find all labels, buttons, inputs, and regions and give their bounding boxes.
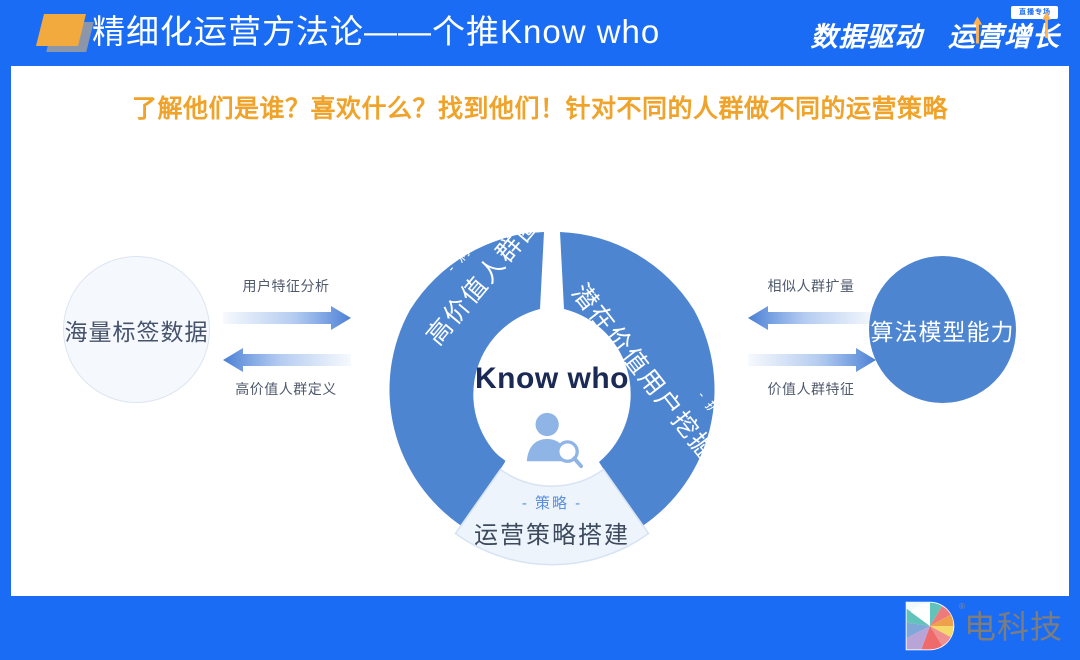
flow-label-right-top: 相似人群扩量	[741, 276, 881, 296]
campaign-slogan: 数据驱动 运营增长	[810, 20, 1060, 54]
node-right-label: 算法模型能力	[871, 313, 1015, 347]
brand-watermark: ® 电科技	[904, 598, 1074, 660]
segment-dash-strategy: - 策略 -	[407, 493, 697, 515]
flow-arrows-left	[223, 306, 351, 372]
arrow-up-icon-2	[1042, 12, 1051, 38]
node-left-tag-data: 海量标签数据	[63, 256, 210, 403]
segment-label-strategy: - 策略 - 运营策略搭建	[407, 493, 697, 553]
flow-label-left-top: 用户特征分析	[216, 276, 356, 296]
pinwheel-logo-icon	[904, 600, 956, 652]
brand-name: 电科技	[964, 606, 1063, 648]
flow-label-right-bottom: 价值人群特征	[741, 379, 881, 399]
stacked-parallelogram-logo-icon	[36, 12, 94, 54]
center-title: Know who	[397, 362, 707, 396]
segment-name-strategy: 运营策略搭建	[407, 519, 697, 553]
campaign-slogan-part1: 数据驱动	[810, 22, 922, 52]
knowwho-diagram: - 洞察 - 高价值人群圈选 - 扩量 - 潜在价值用户挖掘 - 策略 - 运营…	[11, 66, 1069, 596]
node-left-label: 海量标签数据	[65, 313, 209, 347]
arrow-up-icon-1	[973, 16, 982, 44]
logo-front-shape	[36, 14, 86, 46]
node-right-algo-model: 算法模型能力	[869, 256, 1016, 403]
slide-root: 精细化运营方法论——个推Know who 直播专场 数据驱动 运营增长 了解他们…	[0, 0, 1080, 607]
flow-arrows-right	[748, 306, 876, 372]
slide-body: 了解他们是谁？喜欢什么？找到他们！针对不同的人群做不同的运营策略	[11, 66, 1069, 596]
page-title: 精细化运营方法论——个推Know who	[92, 8, 660, 56]
campaign-lockup: 直播专场 数据驱动 运营增长	[832, 4, 1062, 62]
user-search-icon	[521, 408, 583, 470]
flow-label-left-bottom: 高价值人群定义	[216, 379, 356, 399]
slide-header: 精细化运营方法论——个推Know who 直播专场 数据驱动 运营增长	[0, 0, 1080, 66]
